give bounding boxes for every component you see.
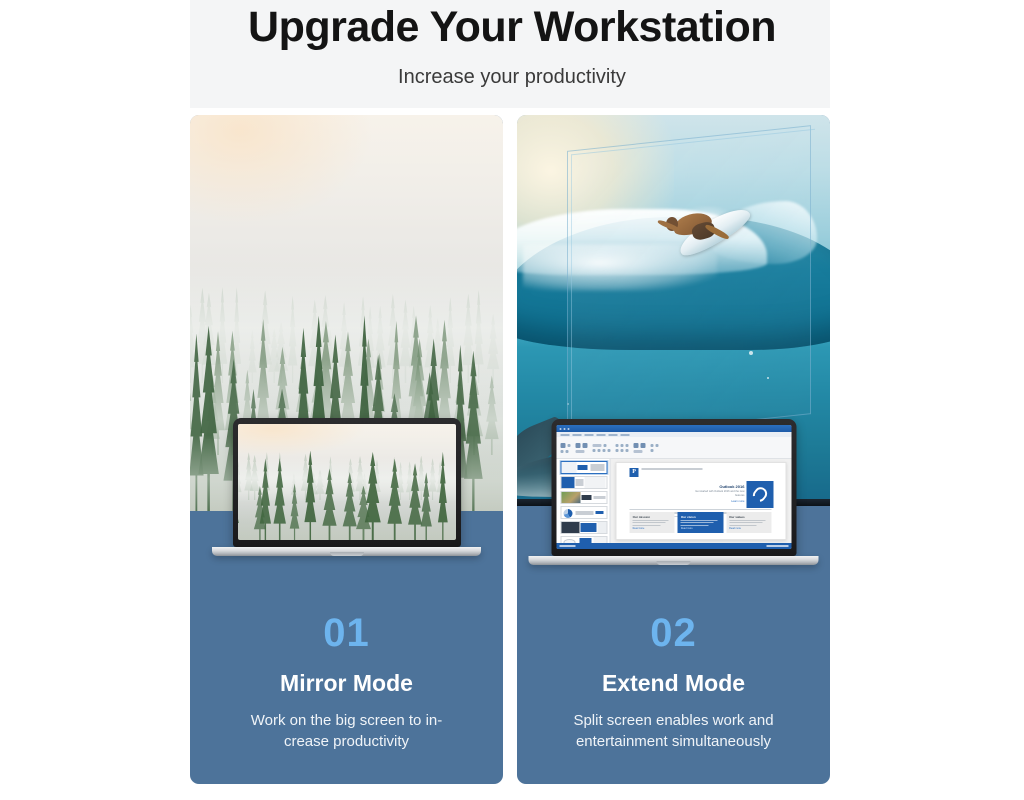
card-title: Our mission bbox=[633, 515, 672, 519]
thumb-region bbox=[581, 495, 591, 500]
card-title: Our vision bbox=[681, 515, 720, 519]
bold-icon[interactable] bbox=[592, 449, 595, 452]
paperclip-icon bbox=[750, 485, 769, 505]
page-header: Upgrade Your Workstation Increase your p… bbox=[0, 0, 1024, 108]
arrange-icon[interactable] bbox=[640, 443, 645, 448]
ribbon-tab[interactable] bbox=[596, 434, 605, 436]
find-icon[interactable] bbox=[650, 444, 653, 447]
panel-caption-extend: 02 Extend Mode Split screen enables work… bbox=[517, 610, 830, 784]
thumb-region bbox=[561, 477, 575, 488]
shapes-icon[interactable] bbox=[633, 443, 638, 448]
font-size-box[interactable] bbox=[603, 444, 606, 447]
pine-tree bbox=[287, 483, 302, 540]
copy-icon[interactable] bbox=[560, 450, 563, 453]
panel-description-line2: entertainment simultaneously bbox=[576, 733, 771, 750]
slide-thumbnail-panel[interactable] bbox=[556, 459, 610, 543]
cut-icon[interactable] bbox=[567, 444, 570, 447]
feature-panel-extend-mode[interactable]: P Outlook 2016 Get started with Outlook … bbox=[517, 115, 830, 784]
card-text-line bbox=[681, 522, 714, 523]
slide-card[interactable]: Our mission Read more bbox=[630, 512, 675, 533]
product-feature-page: Upgrade Your Workstation Increase your p… bbox=[0, 0, 1024, 800]
panel-description: Work on the big screen to in- crease pro… bbox=[208, 710, 485, 752]
pine-tree bbox=[435, 452, 450, 540]
bubble bbox=[767, 377, 769, 379]
layout-icon[interactable] bbox=[582, 443, 587, 448]
card-text-line bbox=[729, 522, 762, 523]
panel-number: 02 bbox=[535, 610, 812, 656]
card-text-line bbox=[729, 520, 765, 521]
card-text-line bbox=[681, 525, 709, 526]
slide-thumbnail[interactable] bbox=[560, 521, 607, 534]
titlebar-dot bbox=[563, 428, 565, 430]
thumb-region bbox=[561, 492, 580, 503]
thumb-region bbox=[563, 539, 576, 543]
feature-panels: 01 Mirror Mode Work on the big screen to… bbox=[190, 115, 830, 784]
numbering-icon[interactable] bbox=[620, 444, 623, 447]
panel-mode-title: Extend Mode bbox=[535, 668, 812, 698]
ribbon-group-clipboard[interactable] bbox=[560, 443, 570, 453]
laptop-base bbox=[212, 547, 481, 556]
card-text-line bbox=[633, 520, 669, 521]
font-name-box[interactable] bbox=[592, 444, 601, 447]
slide-thumbnail[interactable] bbox=[560, 476, 607, 489]
slide-editor-area[interactable]: P Outlook 2016 Get started with Outlook … bbox=[610, 459, 791, 543]
text-line bbox=[630, 509, 772, 511]
thumb-region bbox=[576, 479, 584, 486]
forest-wallpaper bbox=[238, 424, 456, 540]
pine-tree bbox=[383, 459, 406, 540]
slide-thumbnail[interactable] bbox=[560, 506, 607, 519]
slide-card[interactable]: Our vision Read more bbox=[678, 512, 723, 533]
slide-thumbnail[interactable] bbox=[560, 461, 607, 474]
laptop-device-mirror[interactable] bbox=[233, 418, 461, 556]
card-text-line bbox=[633, 522, 666, 523]
slide-thumbnail[interactable] bbox=[560, 536, 607, 543]
panel-description-line1: Split screen enables work and bbox=[573, 712, 773, 729]
slide-card[interactable]: Our values Read more bbox=[726, 512, 771, 533]
card-link[interactable]: Read more bbox=[681, 527, 720, 530]
thumb-chart-icon bbox=[563, 509, 572, 518]
laptop-device-extend[interactable]: P Outlook 2016 Get started with Outlook … bbox=[551, 419, 796, 565]
card-link[interactable]: Read more bbox=[729, 527, 768, 530]
thumb-region bbox=[561, 522, 580, 533]
pine-tree bbox=[238, 455, 243, 540]
pine-tree bbox=[404, 463, 426, 540]
ribbon-group-editing[interactable] bbox=[650, 444, 658, 452]
panel-caption-mirror: 01 Mirror Mode Work on the big screen to… bbox=[190, 610, 503, 784]
panel-number: 01 bbox=[208, 610, 485, 656]
paste-icon[interactable] bbox=[560, 443, 565, 448]
pine-tree bbox=[318, 468, 340, 540]
thumb-region bbox=[580, 538, 591, 543]
bullets-icon[interactable] bbox=[615, 444, 618, 447]
app-status-bar[interactable] bbox=[556, 543, 791, 549]
underline-icon[interactable] bbox=[602, 449, 605, 452]
ribbon-group-paragraph[interactable] bbox=[615, 444, 628, 452]
thumb-region bbox=[575, 511, 593, 515]
surfer bbox=[655, 193, 749, 271]
slide-card-row: Our mission Read more Our visio bbox=[630, 512, 772, 533]
panel-description-line2: crease productivity bbox=[284, 733, 409, 750]
ribbon-tab[interactable] bbox=[572, 434, 581, 436]
format-painter-icon[interactable] bbox=[565, 450, 568, 453]
ribbon-group-drawing[interactable] bbox=[633, 443, 645, 453]
thumb-region bbox=[593, 537, 606, 543]
ribbon-group-slides[interactable] bbox=[575, 443, 587, 453]
panel-description-line1: Work on the big screen to in- bbox=[251, 712, 442, 729]
italic-icon[interactable] bbox=[597, 449, 600, 452]
select-icon[interactable] bbox=[650, 449, 653, 452]
pine-tree bbox=[301, 451, 319, 540]
ribbon-tab[interactable] bbox=[560, 434, 569, 436]
panel-description: Split screen enables work and entertainm… bbox=[535, 710, 812, 752]
ribbon-tab[interactable] bbox=[620, 434, 629, 436]
panel-mode-title: Mirror Mode bbox=[208, 668, 485, 698]
slide-app-logo: P bbox=[630, 468, 639, 477]
app-titlebar bbox=[556, 425, 791, 432]
thumb-region bbox=[591, 464, 604, 471]
slide-badge bbox=[746, 481, 773, 508]
thumb-region bbox=[561, 462, 576, 473]
thumb-region bbox=[595, 511, 603, 514]
thumb-region bbox=[597, 522, 606, 533]
status-slide-indicator bbox=[559, 545, 575, 547]
card-text-line bbox=[729, 525, 757, 526]
thumb-region bbox=[581, 523, 596, 532]
new-slide-icon[interactable] bbox=[575, 443, 580, 448]
laptop-screen-presentation[interactable]: P Outlook 2016 Get started with Outlook … bbox=[556, 425, 791, 549]
titlebar-dot bbox=[567, 428, 569, 430]
ribbon-toolbar[interactable] bbox=[556, 437, 791, 459]
slide-subtitle: Get started with Outlook 2016 and the ne… bbox=[690, 490, 744, 498]
pine-tree bbox=[339, 472, 361, 540]
ribbon-group-font[interactable] bbox=[592, 444, 610, 452]
card-text-line bbox=[633, 525, 661, 526]
align-left-icon[interactable] bbox=[615, 449, 618, 452]
bubble bbox=[749, 351, 753, 355]
thumb-region bbox=[585, 477, 606, 488]
slide-thumbnail[interactable] bbox=[560, 491, 607, 504]
indent-icon[interactable] bbox=[625, 444, 628, 447]
card-title: Our values bbox=[729, 515, 768, 519]
bubble bbox=[567, 403, 569, 405]
laptop-lid: P Outlook 2016 Get started with Outlook … bbox=[551, 419, 796, 556]
page-subtitle: Increase your productivity bbox=[398, 63, 626, 91]
titlebar-dot bbox=[559, 428, 561, 430]
laptop-base bbox=[529, 556, 818, 565]
laptop-lid bbox=[233, 418, 461, 547]
slide-title: Outlook 2016 bbox=[719, 484, 744, 489]
pine-tree bbox=[270, 458, 289, 540]
app-body: P Outlook 2016 Get started with Outlook … bbox=[556, 459, 791, 543]
mini-forest-trees-foreground bbox=[238, 438, 456, 540]
card-text-line bbox=[681, 520, 717, 521]
zoom-slider[interactable] bbox=[766, 545, 788, 547]
laptop-screen-mirror[interactable] bbox=[238, 424, 456, 540]
feature-panel-mirror-mode[interactable]: 01 Mirror Mode Work on the big screen to… bbox=[190, 115, 503, 784]
slide-link[interactable]: Learn more bbox=[731, 500, 744, 503]
slide-header-rule bbox=[642, 468, 703, 470]
quick-styles-icon[interactable] bbox=[633, 450, 642, 453]
align-right-icon[interactable] bbox=[625, 449, 628, 452]
thumb-region bbox=[577, 465, 588, 470]
align-center-icon[interactable] bbox=[620, 449, 623, 452]
card-link[interactable]: Read more bbox=[633, 527, 672, 530]
replace-icon[interactable] bbox=[655, 444, 658, 447]
font-color-icon[interactable] bbox=[607, 449, 610, 452]
current-slide[interactable]: P Outlook 2016 Get started with Outlook … bbox=[615, 462, 786, 540]
presentation-app[interactable]: P Outlook 2016 Get started with Outlook … bbox=[556, 425, 791, 549]
reset-icon[interactable] bbox=[575, 450, 584, 453]
page-title: Upgrade Your Workstation bbox=[248, 2, 776, 52]
thumb-region bbox=[594, 496, 605, 499]
ribbon-tab[interactable] bbox=[608, 434, 617, 436]
ribbon-tab[interactable] bbox=[584, 434, 593, 436]
